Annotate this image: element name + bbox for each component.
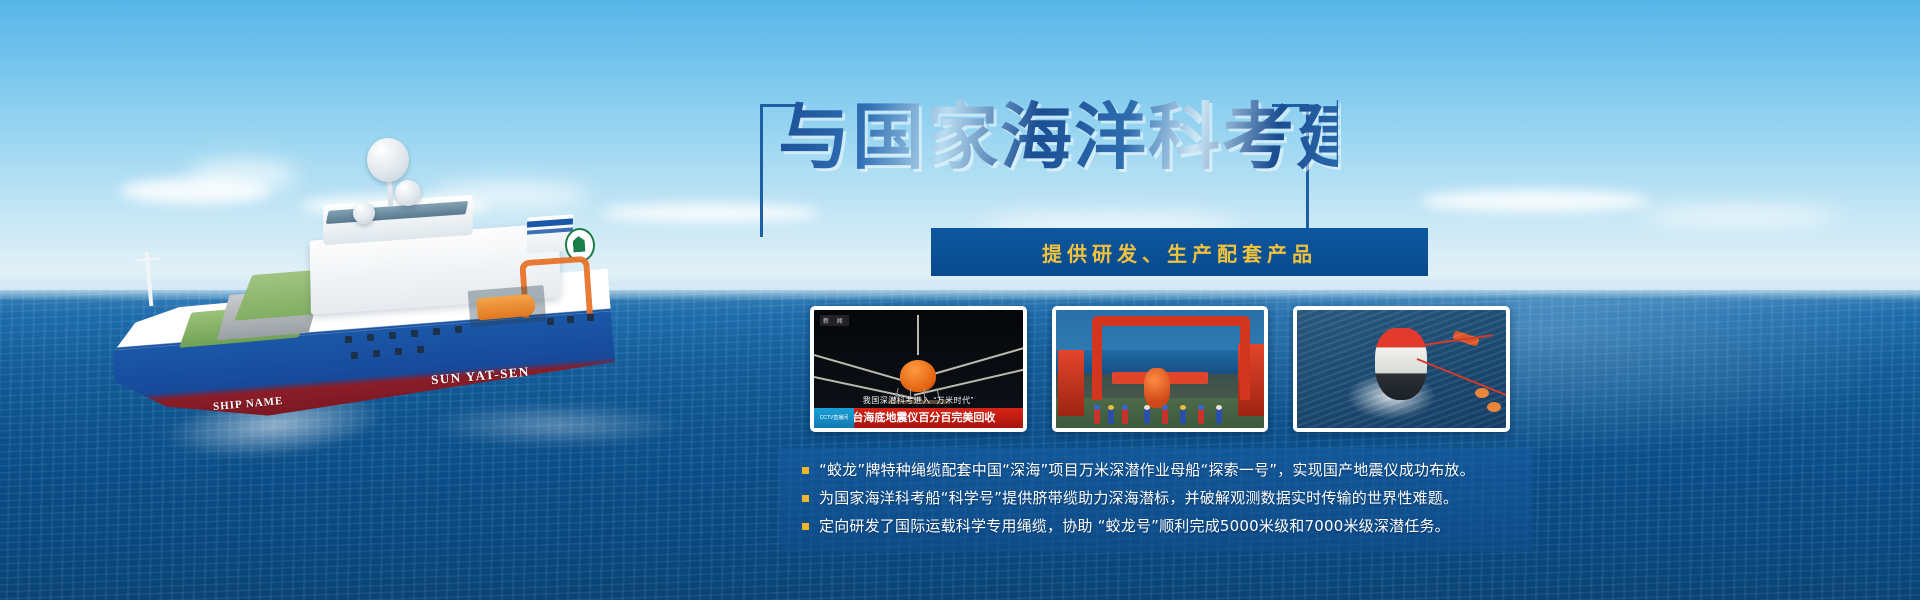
ship-bow-mast [145,252,154,306]
ship-porthole [345,336,352,343]
tow-line [1417,358,1507,396]
banner-subtitle-text: 提供研发、生产配套产品 [1042,238,1317,267]
ship-porthole [411,330,418,337]
equipment-cluster [1144,368,1170,408]
bullet-square-icon [802,523,809,530]
bullet-item: 为国家海洋科考船“科学号”提供脐带缆助力深海潜标，并破解观测数据实时传输的世界性… [802,488,1532,508]
bullet-text: 为国家海洋科考船“科学号”提供脐带缆助力深海潜标，并破解观测数据实时传输的世界性… [819,488,1458,508]
ship-porthole [367,334,374,341]
thumbnail-gallery: 新 闻 我国深潜科考进入 “万米时代” 九台海底地震仪百分百完美回收 CCTV直… [810,306,1510,424]
achievement-bullet-panel: “蛟龙”牌特种绳缆配套中国“深海”项目万米深潜作业母船“探索一号”，实现国产地震… [780,448,1532,552]
channel-label: 新 闻 [820,315,849,326]
ship-porthole [455,326,462,333]
banner-title: 与国家海洋科考建立合作 [778,96,1338,182]
ship-radome-large [367,138,409,182]
bullet-square-icon [802,467,809,474]
bullet-text: “蛟龙”牌特种绳缆配套中国“深海”项目万米深潜作业母船“探索一号”，实现国产地震… [819,460,1475,480]
ship-porthole [567,316,574,323]
ship-porthole [587,314,594,321]
marker-buoy [1475,388,1489,398]
cloud-shape [1640,206,1840,226]
rope-line [917,315,919,355]
news-caption-top: 我国深潜科考进入 “万米时代” [814,395,1023,406]
thumb-deck-aframe[interactable] [1052,306,1269,432]
thumb-submersible[interactable] [1293,306,1510,432]
bullet-square-icon [802,495,809,502]
marine-research-banner: SHIP NAME SUN YAT-SEN 与国家海洋科考建立合作 提供研发、生… [0,0,1920,600]
ship-porthole [433,328,440,335]
ship-porthole [395,348,402,355]
ship-radome-small [353,202,375,224]
ship-porthole [547,318,554,325]
banner-title-text: 与国家海洋科考建立合作 [778,96,1338,178]
submersible-icon [1375,328,1427,400]
bullet-text: 定向研发了国际运载科学专用绳缆，协助 “蛟龙号”顺利完成5000米级和7000米… [819,516,1450,536]
ship-radome-mid [395,180,421,206]
live-badge: CCTV直播间 [814,408,854,428]
ship-porthole [373,350,380,357]
crane-tower-left [1058,350,1084,416]
banner-subtitle-bar: 提供研发、生产配套产品 [931,228,1428,276]
tow-line [1423,334,1493,346]
bullet-item: “蛟龙”牌特种绳缆配套中国“深海”项目万米深潜作业母船“探索一号”，实现国产地震… [802,460,1532,480]
a-frame-crane-icon [1092,316,1250,400]
ship-porthole [389,332,396,339]
research-vessel-illustration: SHIP NAME SUN YAT-SEN [95,140,635,440]
ship-porthole [351,352,358,359]
thumb-news-lander[interactable]: 新 闻 我国深潜科考进入 “万米时代” 九台海底地震仪百分百完美回收 CCTV直… [810,306,1027,432]
cloud-shape [1420,190,1650,212]
bullet-item: 定向研发了国际运载科学专用绳缆，协助 “蛟龙号”顺利完成5000米级和7000米… [802,516,1532,536]
ship-porthole [417,346,424,353]
marker-buoy [1487,402,1501,412]
stern-wake [425,402,685,448]
